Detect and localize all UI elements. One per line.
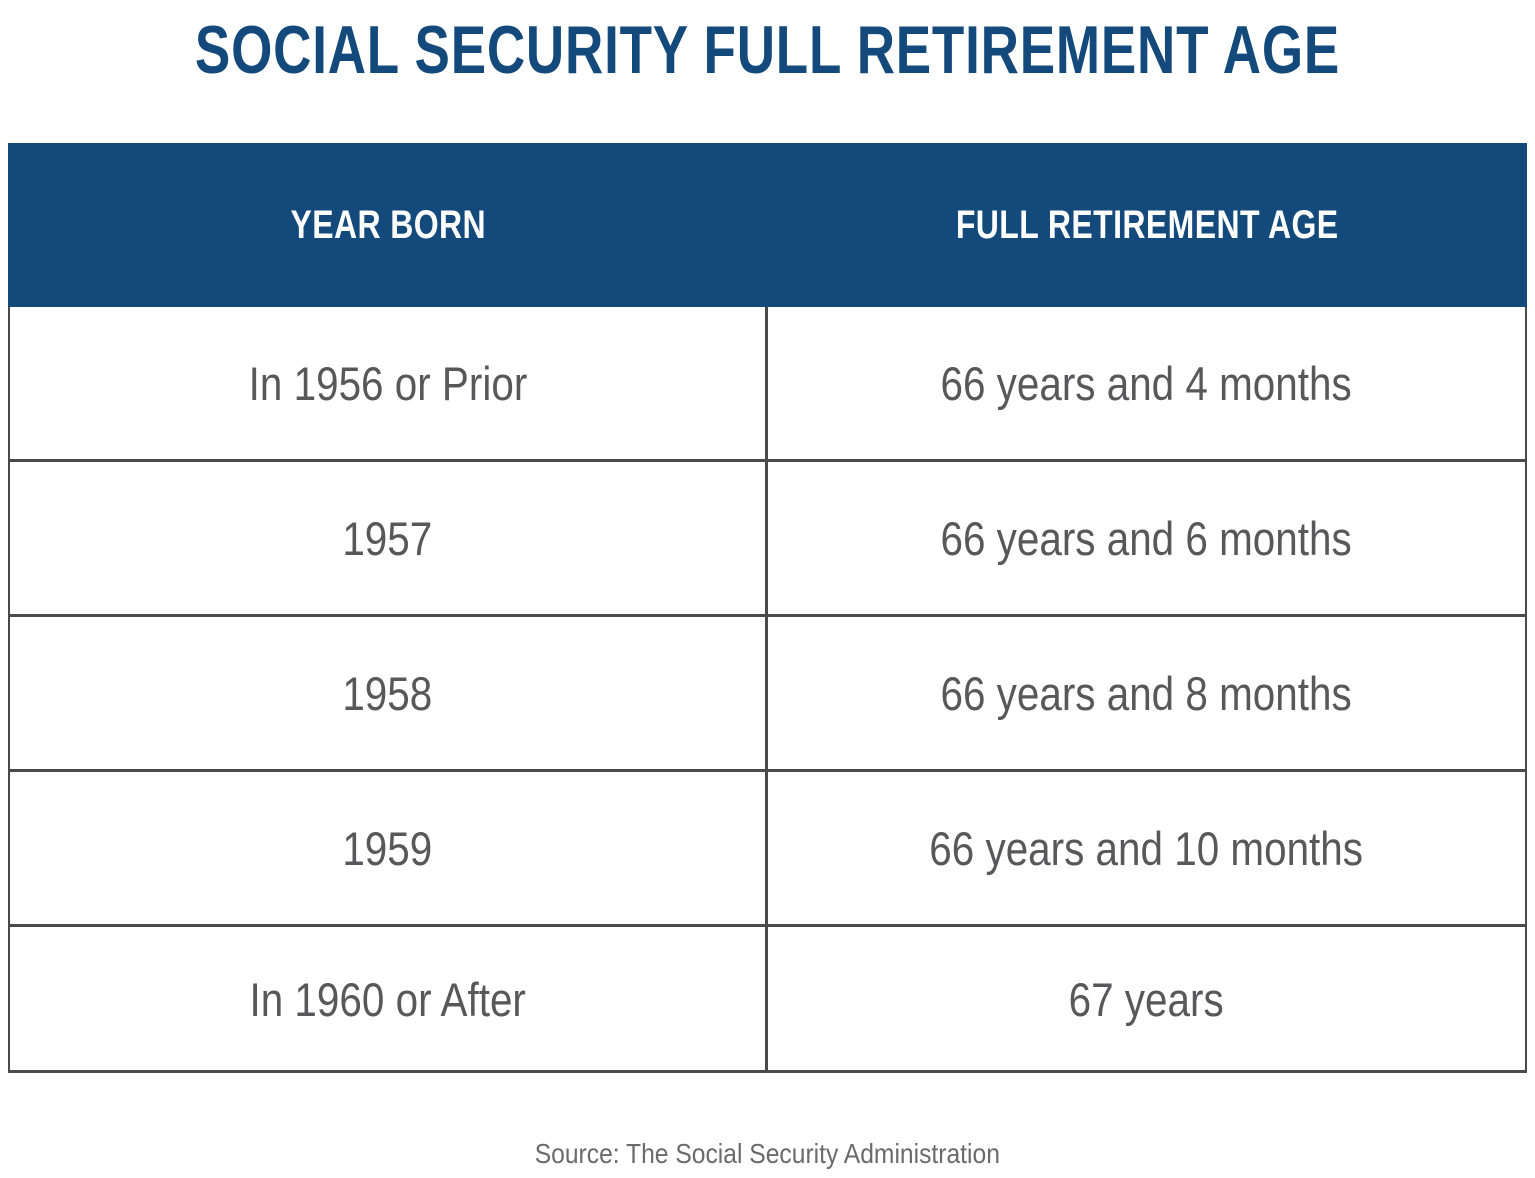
cell-year-born: In 1960 or After <box>10 927 768 1072</box>
cell-full-retirement-age-text: 66 years and 8 months <box>941 666 1352 721</box>
cell-full-retirement-age: 67 years <box>768 927 1525 1072</box>
column-header-year-born-label: YEAR BORN <box>290 203 486 248</box>
cell-full-retirement-age-text: 66 years and 10 months <box>930 821 1364 876</box>
cell-full-retirement-age-text: 66 years and 4 months <box>941 356 1352 411</box>
column-header-year-born: YEAR BORN <box>8 143 768 307</box>
infographic-root: SOCIAL SECURITY FULL RETIREMENT AGE YEAR… <box>0 0 1535 1178</box>
table-row: 1957 66 years and 6 months <box>10 462 1525 617</box>
cell-full-retirement-age: 66 years and 8 months <box>768 617 1525 769</box>
cell-year-born: 1958 <box>10 617 768 769</box>
page-title: SOCIAL SECURITY FULL RETIREMENT AGE <box>169 10 1366 90</box>
cell-year-born-text: In 1960 or After <box>249 972 525 1027</box>
table-row: In 1960 or After 67 years <box>10 927 1525 1072</box>
cell-full-retirement-age-text: 67 years <box>1069 972 1224 1027</box>
cell-year-born: In 1956 or Prior <box>10 307 768 459</box>
table-row: 1958 66 years and 8 months <box>10 617 1525 772</box>
table-body: In 1956 or Prior 66 years and 4 months 1… <box>8 307 1527 1073</box>
cell-full-retirement-age: 66 years and 4 months <box>768 307 1525 459</box>
retirement-age-table: YEAR BORN FULL RETIREMENT AGE In 1956 or… <box>8 143 1527 1073</box>
cell-full-retirement-age: 66 years and 10 months <box>768 772 1525 924</box>
source-note-text: Source: The Social Security Administrati… <box>535 1138 1000 1170</box>
cell-full-retirement-age: 66 years and 6 months <box>768 462 1525 614</box>
cell-full-retirement-age-text: 66 years and 6 months <box>941 511 1352 566</box>
source-note: Source: The Social Security Administrati… <box>0 1138 1535 1170</box>
cell-year-born-text: 1958 <box>343 666 433 721</box>
cell-year-born-text: 1957 <box>343 511 433 566</box>
cell-year-born-text: In 1956 or Prior <box>248 356 527 411</box>
table-row: 1959 66 years and 10 months <box>10 772 1525 927</box>
cell-year-born: 1959 <box>10 772 768 924</box>
cell-year-born-text: 1959 <box>343 821 433 876</box>
column-header-full-retirement-age-label: FULL RETIREMENT AGE <box>956 203 1339 248</box>
column-header-full-retirement-age: FULL RETIREMENT AGE <box>768 143 1527 307</box>
table-row: In 1956 or Prior 66 years and 4 months <box>10 307 1525 462</box>
cell-year-born: 1957 <box>10 462 768 614</box>
table-header-row: YEAR BORN FULL RETIREMENT AGE <box>8 143 1527 307</box>
